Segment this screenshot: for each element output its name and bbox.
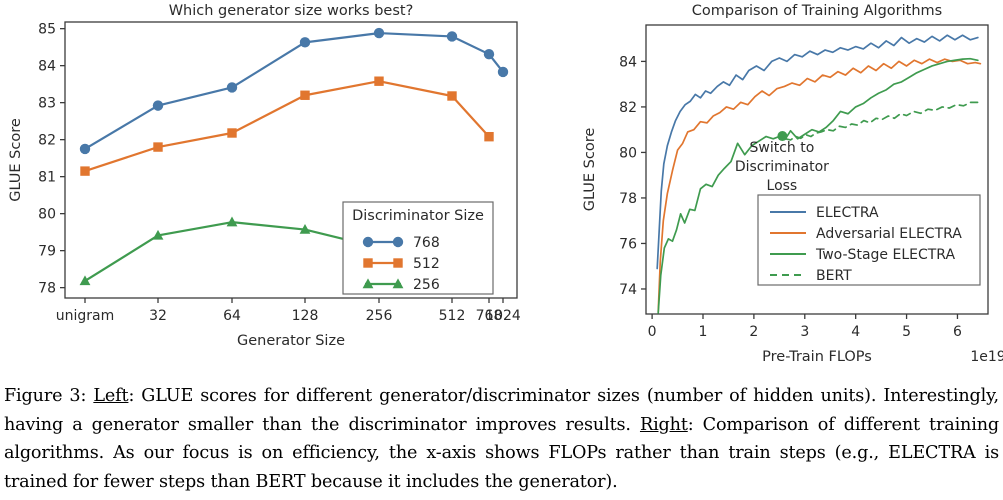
right-chart-title: Comparison of Training Algorithms <box>692 3 942 19</box>
left-x-tick-label: 128 <box>292 308 319 324</box>
caption-left-label: Left <box>93 386 128 406</box>
right-y-tick-label: 78 <box>619 191 637 207</box>
left-y-tick-label: 84 <box>38 59 56 75</box>
left-marker-circle <box>447 31 457 41</box>
left-x-tick-label: 32 <box>149 308 167 324</box>
right-legend-label: Adversarial ELECTRA <box>816 226 962 242</box>
left-y-tick-label: 83 <box>38 96 56 112</box>
left-marker-square <box>374 76 383 85</box>
left-legend-marker <box>393 258 402 267</box>
switch-annotation-line: Loss <box>767 178 798 194</box>
right-y-tick-label: 84 <box>619 54 637 70</box>
left-marker-square <box>80 166 89 175</box>
right-x-tick-label: 2 <box>749 324 758 340</box>
left-chart-svg: 7879808182838485GLUE Scoreunigram3264128… <box>0 0 530 378</box>
left-marker-circle <box>374 28 384 38</box>
left-series-line-256 <box>85 222 379 281</box>
left-marker-circle <box>227 82 237 92</box>
left-y-tick-label: 78 <box>38 281 56 297</box>
left-y-tick-label: 85 <box>38 22 56 38</box>
right-x-tick-label: 5 <box>902 324 911 340</box>
left-marker-square <box>153 142 162 151</box>
right-legend-label: ELECTRA <box>816 205 879 221</box>
figure-page: 7879808182838485GLUE Scoreunigram3264128… <box>0 0 1003 500</box>
right-series-line-BERT <box>785 102 977 140</box>
left-marker-circle <box>153 100 163 110</box>
right-x-tick-label: 1 <box>699 324 708 340</box>
left-x-axis-title: Generator Size <box>237 333 345 349</box>
left-legend-marker <box>363 237 373 247</box>
left-series-line-768 <box>85 33 503 149</box>
left-legend-label: 512 <box>413 256 440 272</box>
right-x-axis-title: Pre-Train FLOPs <box>762 349 872 365</box>
right-y-tick-label: 82 <box>619 100 637 116</box>
left-y-tick-label: 79 <box>38 244 56 260</box>
left-marker-circle <box>484 49 494 59</box>
left-marker-circle <box>498 67 508 77</box>
right-x-tick-label: 6 <box>953 324 962 340</box>
right-x-tick-label: 4 <box>851 324 860 340</box>
left-chart-title: Which generator size works best? <box>169 3 414 19</box>
caption-right-label: Right <box>640 415 688 435</box>
right-y-tick-label: 76 <box>619 236 637 252</box>
left-legend-label: 768 <box>413 235 440 251</box>
left-legend-title: Discriminator Size <box>352 208 484 224</box>
left-x-tick-label: 256 <box>366 308 393 324</box>
left-y-axis-title: GLUE Score <box>8 118 24 202</box>
right-legend-label: Two-Stage ELECTRA <box>815 247 955 263</box>
right-x-multiplier: 1e19 <box>970 349 1003 365</box>
switch-annotation-line: Switch to <box>749 140 814 156</box>
left-legend-marker <box>393 237 403 247</box>
left-marker-circle <box>300 37 310 47</box>
right-y-axis-title: GLUE Score <box>582 128 598 212</box>
left-legend: Discriminator Size768512256 <box>343 202 493 294</box>
left-marker-triangle <box>80 275 91 285</box>
right-chart-svg: 747678808284GLUE Score0123456Pre-Train F… <box>570 0 1003 378</box>
left-x-tick-label: 512 <box>439 308 466 324</box>
switch-annotation-line: Discriminator <box>735 159 829 175</box>
right-x-tick-label: 3 <box>800 324 809 340</box>
right-legend: ELECTRAAdversarial ELECTRATwo-Stage ELEC… <box>758 195 980 285</box>
right-y-tick-label: 80 <box>619 145 637 161</box>
left-marker-square <box>484 132 493 141</box>
left-y-tick-label: 80 <box>38 207 56 223</box>
left-legend-label: 256 <box>413 277 440 293</box>
right-chart-panel: 747678808284GLUE Score0123456Pre-Train F… <box>570 0 1003 378</box>
left-legend-marker <box>363 258 372 267</box>
left-marker-circle <box>80 144 90 154</box>
caption-prefix: Figure 3: <box>4 386 93 406</box>
left-x-tick-label: unigram <box>56 308 115 324</box>
left-series-line-512 <box>85 81 489 171</box>
left-y-tick-label: 81 <box>38 170 56 186</box>
left-x-tick-label: 1024 <box>485 308 521 324</box>
left-marker-square <box>227 128 236 137</box>
figure-caption: Figure 3: Left: GLUE scores for differen… <box>4 382 999 496</box>
left-chart-panel: 7879808182838485GLUE Scoreunigram3264128… <box>0 0 530 378</box>
left-y-tick-label: 82 <box>38 133 56 149</box>
left-marker-square <box>447 91 456 100</box>
right-y-tick-label: 74 <box>619 282 637 298</box>
right-legend-label: BERT <box>816 268 852 284</box>
right-x-tick-label: 0 <box>648 324 657 340</box>
figure-area: 7879808182838485GLUE Scoreunigram3264128… <box>0 0 1003 378</box>
left-x-tick-label: 64 <box>223 308 241 324</box>
left-marker-square <box>300 91 309 100</box>
